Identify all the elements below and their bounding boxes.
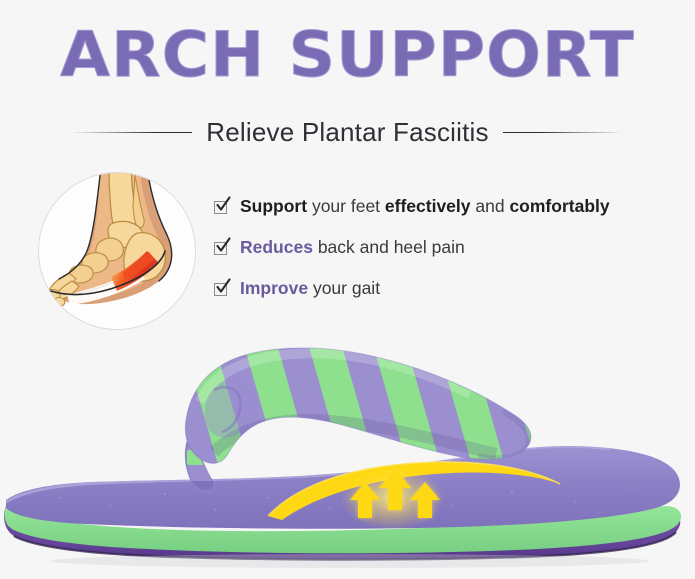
subtitle: Relieve Plantar Fasciitis	[206, 117, 488, 148]
bullet-0-part-4: comfortably	[509, 196, 609, 216]
divider-left	[72, 132, 192, 133]
promo-image: ARCH SUPPORT Relieve Plantar Fasciitis	[0, 0, 695, 579]
bullet-0-part-0: Support	[240, 196, 307, 216]
list-item: Improve your gait	[214, 278, 684, 298]
bullet-2-part-1: your gait	[308, 278, 380, 298]
bullet-0-part-1: your feet	[307, 196, 385, 216]
subtitle-row: Relieve Plantar Fasciitis	[0, 112, 695, 152]
page-title: ARCH SUPPORT	[0, 20, 695, 90]
list-item-label: Support your feet effectively and comfor…	[240, 196, 610, 216]
arch-support-lift-arrows	[340, 466, 444, 530]
checkbox-checked-icon	[214, 281, 231, 298]
list-item: Reduces back and heel pain	[214, 237, 684, 257]
bullet-0-part-2: effectively	[385, 196, 471, 216]
foot-anatomy-illustration	[38, 172, 196, 330]
checkbox-checked-icon	[214, 240, 231, 257]
product-image-sandal	[0, 330, 695, 579]
bullet-1-part-0: Reduces	[240, 237, 313, 257]
divider-right	[503, 132, 623, 133]
list-item-label: Reduces back and heel pain	[240, 237, 465, 257]
list-item-label: Improve your gait	[240, 278, 380, 298]
checkbox-checked-icon	[214, 199, 231, 216]
bullet-0-part-3: and	[471, 196, 510, 216]
list-item: Support your feet effectively and comfor…	[214, 196, 684, 216]
benefit-list: Support your feet effectively and comfor…	[214, 196, 684, 319]
bullet-2-part-0: Improve	[240, 278, 308, 298]
bullet-1-part-1: back and heel pain	[313, 237, 465, 257]
